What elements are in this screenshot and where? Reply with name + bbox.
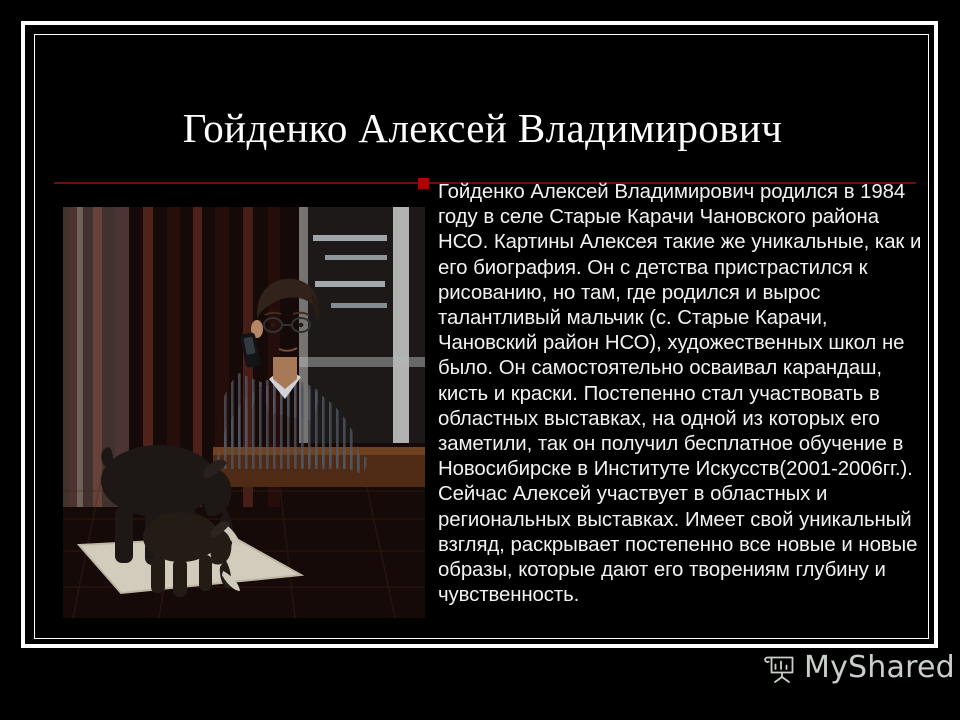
portrait-photo: 0%" stop-color="#5e211d"/> 55%" stop-col… <box>63 207 425 618</box>
watermark-label: MyShared <box>804 653 955 683</box>
slide-inner-frame: Гойденко Алексей Владимирович 0%" stop-c… <box>34 34 929 639</box>
body-paragraph: Гойденко Алексей Владимирович родился в … <box>438 180 924 608</box>
page-title: Гойденко Алексей Владимирович <box>35 107 929 150</box>
presentation-chart-icon <box>762 652 796 684</box>
watermark: MyShared <box>762 652 955 684</box>
slide-root: Гойденко Алексей Владимирович 0%" stop-c… <box>0 0 960 720</box>
bullet-square-icon <box>418 178 429 189</box>
